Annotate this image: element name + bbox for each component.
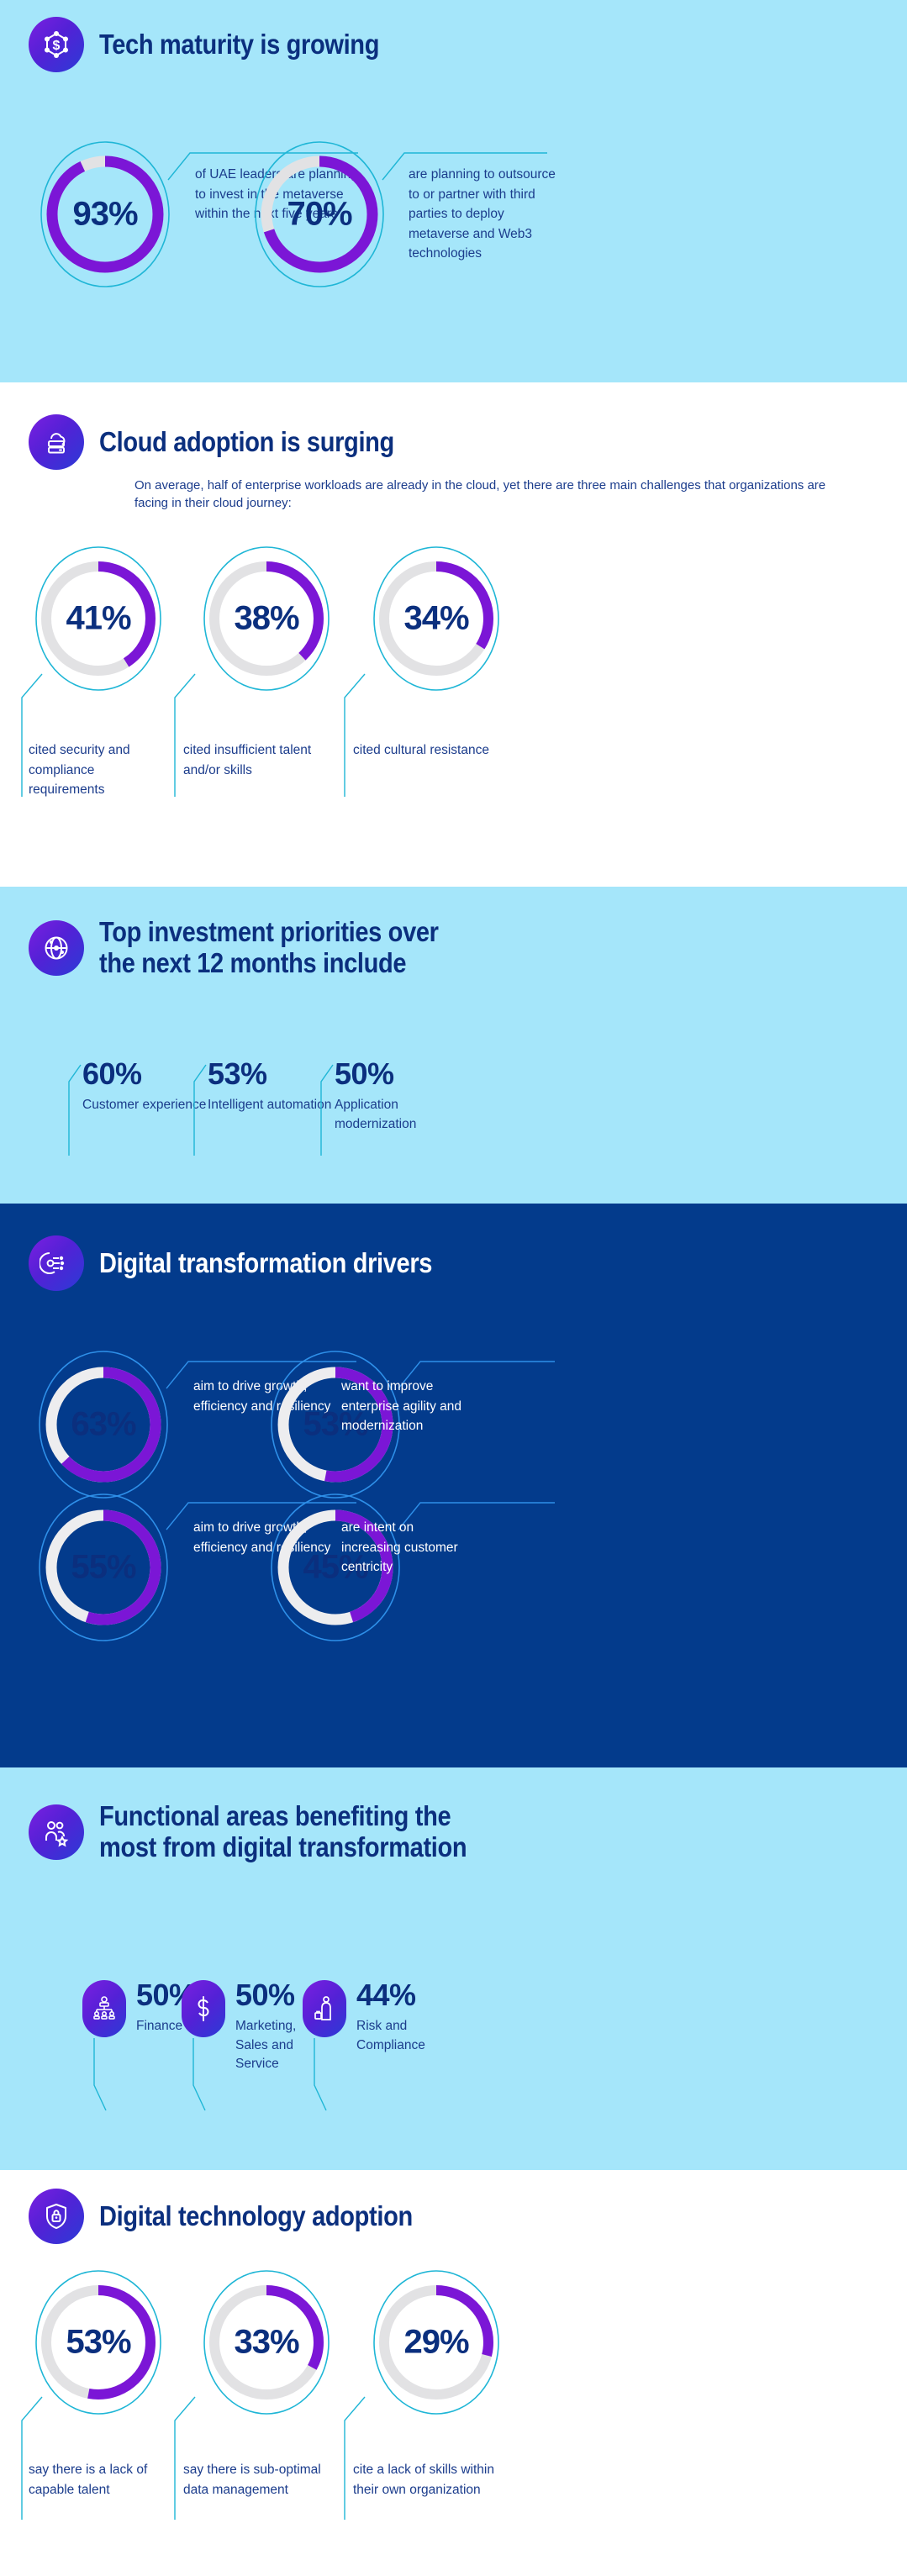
hexagon-dollar-icon: $ (29, 17, 84, 72)
donut-chart: 29% (356, 2263, 516, 2422)
page-title: Tech maturity is growing (99, 29, 379, 61)
stat-description: say there is sub-optimal data management (183, 2460, 330, 2500)
people-star-icon (29, 1804, 84, 1860)
globe-network-icon (29, 920, 84, 976)
stat-description: cited insufficient talent and/or skills (183, 740, 335, 780)
stat-description: are planning to outsource to or partner … (409, 165, 560, 264)
donut-value: 53% (18, 2324, 178, 2362)
stat-description: say there is a lack of capable talent (29, 2460, 176, 2500)
donut-value: 70% (240, 196, 399, 234)
stat-description: Customer experience (82, 1096, 208, 1115)
page-title: Cloud adoption is surging (99, 427, 394, 458)
person-briefcase-icon (303, 1980, 346, 2037)
donut-chart: 55% (24, 1488, 183, 1647)
stat-value: 50% (335, 1059, 469, 1089)
stat-description: cite a lack of skills within their own o… (353, 2460, 500, 2500)
stat-donut-93: 93% (25, 134, 185, 294)
stat-donut-34: 34% (356, 539, 516, 698)
donut-value: 93% (25, 196, 185, 234)
donut-chart: 63% (24, 1345, 183, 1504)
page-title: Functional areas benefiting the most fro… (99, 1801, 469, 1863)
leader-line (191, 1063, 209, 1157)
section-technology-adoption: Digital technology adoption 53% say ther… (0, 2170, 907, 2576)
page-title: Top investment priorities over the next … (99, 917, 447, 979)
stat-value: 44% (356, 1980, 456, 2010)
donut-value: 29% (356, 2324, 516, 2362)
leader-line (338, 2395, 372, 2521)
stat-donut-55: 55% (24, 1488, 183, 1647)
leader-line (308, 2036, 333, 2120)
donut-chart: 70% (240, 134, 399, 294)
leader-line (338, 672, 372, 798)
page-title: Digital transformation drivers (99, 1248, 432, 1279)
section-tech-maturity: $ Tech maturity is growing 93% of UAE le… (0, 0, 907, 382)
leader-line (168, 2395, 202, 2521)
stat-50: 50% Application modernization (335, 1059, 469, 1134)
svg-text:$: $ (53, 39, 61, 53)
shield-lock-icon (29, 2189, 84, 2244)
stat-donut-63: 63% (24, 1345, 183, 1504)
stat-description: Intelligent automation (208, 1096, 334, 1115)
section-header: Digital transformation drivers (29, 1235, 477, 1291)
section-header: Cloud adoption is surging (29, 414, 435, 470)
leader-line (318, 1063, 336, 1157)
leader-line (187, 2036, 212, 2120)
leader-line (15, 2395, 49, 2521)
stat-description: cited security and compliance requiremen… (29, 740, 171, 800)
stat-description: want to improve enterprise agility and m… (341, 1377, 476, 1436)
donut-value: 41% (18, 600, 178, 638)
section-investment-priorities: Top investment priorities over the next … (0, 887, 907, 1204)
donut-value: 55% (24, 1549, 183, 1587)
stat-value: 60% (82, 1059, 208, 1089)
section-header: $ Tech maturity is growing (29, 17, 418, 72)
section-cloud-adoption: Cloud adoption is surging On average, ha… (0, 382, 907, 887)
org-chart-icon (82, 1980, 126, 2037)
donut-chart: 34% (356, 539, 516, 698)
section-functional-areas: Functional areas benefiting the most fro… (0, 1767, 907, 2170)
leader-line (66, 1063, 84, 1157)
stat-value: 53% (208, 1059, 334, 1089)
stat-donut-70: 70% (240, 134, 399, 294)
donut-value: 63% (24, 1406, 183, 1444)
stat-donut-38: 38% (187, 539, 346, 698)
stat-description: cited cultural resistance (353, 740, 504, 761)
stat-60: 60% Customer experience (82, 1059, 208, 1115)
cloud-server-icon (29, 414, 84, 470)
donut-chart: 93% (25, 134, 185, 294)
donut-chart: 38% (187, 539, 346, 698)
donut-value: 38% (187, 600, 346, 638)
section-header: Top investment priorities over the next … (29, 917, 494, 979)
section-transformation-drivers: Digital transformation drivers 63% aim t… (0, 1204, 907, 1767)
section-header: Functional areas benefiting the most fro… (29, 1801, 519, 1863)
leader-line (87, 2036, 113, 2120)
section-subtitle: On average, half of enterprise workloads… (134, 477, 857, 513)
stat-description: Application modernization (335, 1096, 469, 1134)
stat-description: are intent on increasing customer centri… (341, 1518, 476, 1578)
page-title: Digital technology adoption (99, 2201, 413, 2232)
stat-description: Risk and Compliance (356, 2017, 456, 2055)
stat-donut-33: 33% (187, 2263, 346, 2422)
section-header: Digital technology adoption (29, 2189, 456, 2244)
stat-donut-29: 29% (356, 2263, 516, 2422)
dollar-icon (182, 1980, 225, 2037)
donut-value: 34% (356, 600, 516, 638)
gear-circuit-icon (29, 1235, 84, 1291)
stat-53: 53% Intelligent automation (208, 1059, 334, 1115)
donut-value: 33% (187, 2324, 346, 2362)
donut-chart: 33% (187, 2263, 346, 2422)
